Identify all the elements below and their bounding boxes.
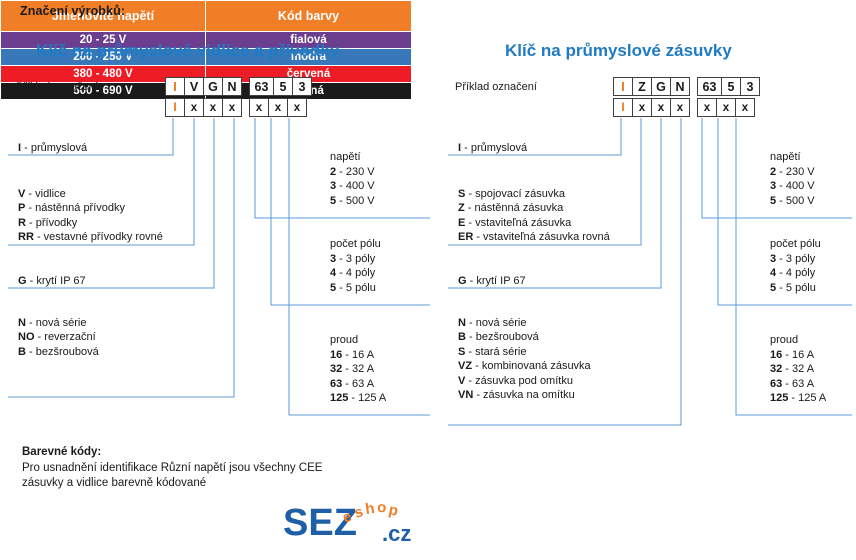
code-cell: x <box>184 98 204 117</box>
rblock-line: 3 - 3 póly <box>770 252 821 267</box>
block-line-text: - průmyslová <box>461 142 527 154</box>
logo-tld-text: .cz <box>382 521 411 546</box>
block-line-code: RR <box>18 231 34 243</box>
rblock-left-poles: počet pólu3 - 3 póly4 - 4 póly5 - 5 pólu <box>330 237 381 295</box>
rblock-line-code: 63 <box>330 378 342 390</box>
block-line: RR - vestavné přívodky rovné <box>18 230 163 244</box>
block-right-industrial: I - průmyslová <box>458 141 527 155</box>
block-line: S - spojovací zásuvka <box>458 187 610 201</box>
rblock-line-code: 16 <box>770 349 782 361</box>
block-line-code: B <box>458 331 466 343</box>
block-line-text: - reverzační <box>35 331 96 343</box>
block-line: V - zásuvka pod omítku <box>458 374 591 388</box>
code-cell: 5 <box>721 77 741 96</box>
code-boxes-left-row2: Ixxxxxx <box>165 98 312 117</box>
code-group-letters: Ixxx <box>613 98 690 117</box>
code-cell: x <box>268 98 288 117</box>
block-line-text: - zásuvka na omítku <box>473 389 575 401</box>
rblock-line-text: - 16 A <box>342 349 374 361</box>
rblock-line-text: - 125 A <box>348 392 386 404</box>
block-line-code: NO <box>18 331 35 343</box>
rblock-line-text: - 500 V <box>336 195 375 207</box>
block-line: P - nástěnná přívodky <box>18 201 163 215</box>
rblock-line: 63 - 63 A <box>330 377 386 392</box>
block-line-code: R <box>18 217 26 229</box>
code-cell: Z <box>632 77 652 96</box>
block-right-sockettype: S - spojovací zásuvkaZ - nástěnná zásuvk… <box>458 187 610 245</box>
block-line-code: VN <box>458 389 473 401</box>
block-line: NO - reverzační <box>18 330 99 344</box>
rblock-line: 3 - 400 V <box>330 179 375 194</box>
block-line: ER - vstaviteľná zásuvka rovná <box>458 230 610 244</box>
block-line-code: N <box>458 317 466 329</box>
rblock-line-text: - 400 V <box>776 180 815 192</box>
col-header-colorname: Kód barvy <box>206 1 412 32</box>
block-line-text: - bezšroubová <box>466 331 539 343</box>
code-cell: x <box>735 98 755 117</box>
rblock-right-poles: počet pólu3 - 3 póly4 - 4 póly5 - 5 pólu <box>770 237 821 295</box>
rblock-line-text: - 400 V <box>336 180 375 192</box>
code-cell: x <box>670 98 690 117</box>
diagram-root: Značení výrobků: Klíč na průmyslové vidl… <box>0 0 856 560</box>
rblock-header: napětí <box>330 150 375 165</box>
block-line: I - průmyslová <box>18 141 87 155</box>
block-line: R - přívodky <box>18 216 163 230</box>
rblock-line-text: - 4 póly <box>776 267 815 279</box>
rblock-line-text: - 230 V <box>336 166 375 178</box>
block-line-text: - vstaviteľná zásuvka <box>465 217 571 229</box>
code-cell: 63 <box>697 77 722 96</box>
block-line-code: G <box>18 275 27 287</box>
rblock-line: 125 - 125 A <box>770 391 826 406</box>
block-line-text: - krytí IP 67 <box>467 275 526 287</box>
rblock-line: 2 - 230 V <box>770 165 815 180</box>
block-left-industrial: I - průmyslová <box>18 141 87 155</box>
block-line-text: - nová série <box>26 317 87 329</box>
block-line: E - vstaviteľná zásuvka <box>458 216 610 230</box>
code-cell: G <box>651 77 671 96</box>
block-line: B - bezšroubová <box>18 345 99 359</box>
code-cell: x <box>716 98 736 117</box>
rblock-line-text: - 5 pólu <box>776 282 816 294</box>
code-group-letters: Ixxx <box>165 98 242 117</box>
block-line-text: - vidlice <box>25 188 65 200</box>
rblock-line-text: - 63 A <box>782 378 814 390</box>
rblock-line-text: - 500 V <box>776 195 815 207</box>
rblock-line: 16 - 16 A <box>330 348 386 363</box>
code-boxes-right-row2: Ixxxxxx <box>613 98 760 117</box>
rblock-header: napětí <box>770 150 815 165</box>
code-cell: x <box>203 98 223 117</box>
block-line-text: - spojovací zásuvka <box>465 188 565 200</box>
code-cell: x <box>651 98 671 117</box>
code-group-numbers: xxx <box>249 98 307 117</box>
note-body-line2: zásuvky a vidlice barevně kódované <box>22 476 322 491</box>
block-line: Z - nástěnná zásuvka <box>458 201 610 215</box>
rblock-line-code: 125 <box>330 392 348 404</box>
rblock-line-text: - 4 póly <box>336 267 375 279</box>
block-line-text: - krytí IP 67 <box>27 275 86 287</box>
rblock-line-code: 125 <box>770 392 788 404</box>
rblock-left-voltage: napětí2 - 230 V3 - 400 V5 - 500 V <box>330 150 375 208</box>
rblock-line-text: - 32 A <box>342 363 374 375</box>
section-title-plugs: Klíč na průmyslové vidlice a přívodky <box>36 41 339 61</box>
rblock-line: 16 - 16 A <box>770 348 826 363</box>
block-line-text: - nástěnná zásuvka <box>465 202 563 214</box>
rblock-line-text: - 3 póly <box>776 253 815 265</box>
sez-eshop-logo: SEZ eshop .cz <box>283 497 433 549</box>
block-left-series: N - nová sérieNO - reverzačníB - bezšrou… <box>18 316 99 359</box>
rblock-line: 63 - 63 A <box>770 377 826 392</box>
code-cell: V <box>184 77 204 96</box>
block-line-text: - průmyslová <box>21 142 87 154</box>
block-line-text: - bezšroubová <box>26 346 99 358</box>
rblock-line-text: - 63 A <box>342 378 374 390</box>
rblock-line-code: 16 <box>330 349 342 361</box>
rblock-line: 5 - 500 V <box>330 194 375 209</box>
block-line-text: - zásuvka pod omítku <box>465 375 573 387</box>
code-group-numbers: 6353 <box>249 77 312 96</box>
rblock-line-text: - 5 pólu <box>336 282 376 294</box>
rblock-line: 2 - 230 V <box>330 165 375 180</box>
block-line: B - bezšroubová <box>458 330 591 344</box>
block-line: S - stará série <box>458 345 591 359</box>
rblock-line: 32 - 32 A <box>330 362 386 377</box>
rblock-line-code: 32 <box>770 363 782 375</box>
block-line-code: VZ <box>458 360 472 372</box>
block-line-code: Z <box>458 202 465 214</box>
code-cell: 63 <box>249 77 274 96</box>
block-right-series: N - nová sérieB - bezšroubováS - stará s… <box>458 316 591 402</box>
code-cell: I <box>613 98 633 117</box>
block-line: G - krytí IP 67 <box>18 274 86 288</box>
block-line-code: G <box>458 275 467 287</box>
code-cell: x <box>632 98 652 117</box>
note-body: Pro usnadnění identifikace Různí napětí … <box>22 461 322 491</box>
rblock-header: proud <box>330 333 386 348</box>
block-line-text: - nová série <box>466 317 527 329</box>
code-boxes-left-row1: IVGN6353 <box>165 77 312 96</box>
rblock-line: 125 - 125 A <box>330 391 386 406</box>
block-line: VN - zásuvka na omítku <box>458 388 591 402</box>
code-boxes-right-row1: IZGN6353 <box>613 77 760 96</box>
rblock-line: 3 - 3 póly <box>330 252 381 267</box>
block-line-code: B <box>18 346 26 358</box>
code-cell: N <box>670 77 690 96</box>
rblock-right-current: proud16 - 16 A32 - 32 A63 - 63 A125 - 12… <box>770 333 826 406</box>
block-line-code: ER <box>458 231 473 243</box>
block-line-text: - kombinovaná zásuvka <box>472 360 591 372</box>
rblock-line-code: 63 <box>770 378 782 390</box>
code-cell: x <box>287 98 307 117</box>
block-line: N - nová série <box>18 316 99 330</box>
code-cell: 5 <box>273 77 293 96</box>
block-line: V - vidlice <box>18 187 163 201</box>
logo-sup-letter: p <box>387 501 400 520</box>
block-line-text: - stará série <box>465 346 526 358</box>
rblock-line: 5 - 5 pólu <box>330 281 381 296</box>
rblock-line: 32 - 32 A <box>770 362 826 377</box>
block-right-protection: G - krytí IP 67 <box>458 274 526 288</box>
rblock-line-text: - 230 V <box>776 166 815 178</box>
block-line: N - nová série <box>458 316 591 330</box>
code-group-letters: IVGN <box>165 77 242 96</box>
example-label-left: Příklad označení <box>16 81 98 93</box>
logo-sup-letter: o <box>377 499 387 516</box>
note-title: Barevné kódy: <box>22 446 101 458</box>
block-line: G - krytí IP 67 <box>458 274 526 288</box>
rblock-line-text: - 16 A <box>782 349 814 361</box>
code-cell: I <box>613 77 633 96</box>
rblock-line: 5 - 5 pólu <box>770 281 821 296</box>
code-cell: I <box>165 77 185 96</box>
block-line-text: - vstaviteľná zásuvka rovná <box>473 231 610 243</box>
rblock-left-current: proud16 - 16 A32 - 32 A63 - 63 A125 - 12… <box>330 333 386 406</box>
example-label-right: Příklad označení <box>455 81 537 93</box>
code-cell: x <box>222 98 242 117</box>
block-line-code: N <box>18 317 26 329</box>
rblock-line: 5 - 500 V <box>770 194 815 209</box>
block-line: VZ - kombinovaná zásuvka <box>458 359 591 373</box>
note-body-line1: Pro usnadnění identifikace Různí napětí … <box>22 462 322 474</box>
block-left-protection: G - krytí IP 67 <box>18 274 86 288</box>
code-cell: I <box>165 98 185 117</box>
code-cell: 3 <box>292 77 312 96</box>
code-cell: x <box>249 98 269 117</box>
block-left-devicetype: V - vidliceP - nástěnná přívodkyR - přív… <box>18 187 163 245</box>
rblock-line-text: - 32 A <box>782 363 814 375</box>
rblock-line-text: - 3 póly <box>336 253 375 265</box>
block-line-text: - přívodky <box>26 217 77 229</box>
rblock-header: proud <box>770 333 826 348</box>
block-line-text: - nástěnná přívodky <box>25 202 125 214</box>
rblock-header: počet pólu <box>330 237 381 252</box>
code-cell: N <box>222 77 242 96</box>
block-line-text: - vestavné přívodky rovné <box>34 231 163 243</box>
rblock-line: 3 - 400 V <box>770 179 815 194</box>
rblock-line-code: 32 <box>330 363 342 375</box>
rblock-right-voltage: napětí2 - 230 V3 - 400 V5 - 500 V <box>770 150 815 208</box>
block-line: I - průmyslová <box>458 141 527 155</box>
page-title: Značení výrobků: <box>20 4 125 18</box>
rblock-line-text: - 125 A <box>788 392 826 404</box>
rblock-header: počet pólu <box>770 237 821 252</box>
code-cell: x <box>697 98 717 117</box>
code-group-numbers: xxx <box>697 98 755 117</box>
logo-sup-letter: h <box>364 500 375 518</box>
section-title-sockets: Klíč na průmyslové zásuvky <box>505 41 732 61</box>
rblock-line: 4 - 4 póly <box>770 266 821 281</box>
code-group-numbers: 6353 <box>697 77 760 96</box>
code-group-letters: IZGN <box>613 77 690 96</box>
rblock-line: 4 - 4 póly <box>330 266 381 281</box>
code-cell: G <box>203 77 223 96</box>
code-cell: 3 <box>740 77 760 96</box>
